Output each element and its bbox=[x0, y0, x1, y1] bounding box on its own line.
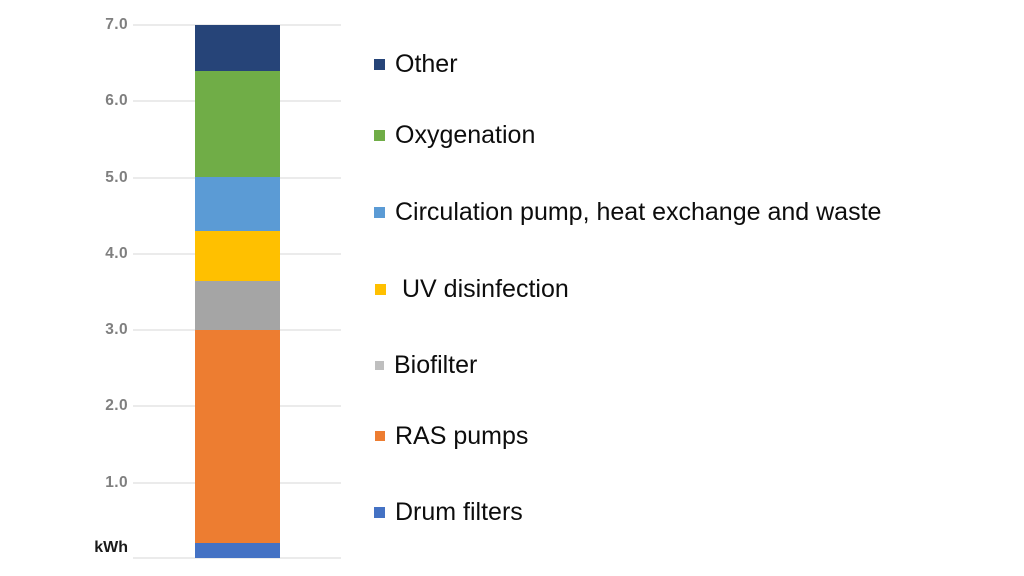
ytick-4: 4.0 bbox=[68, 246, 128, 262]
ytick-7: 7.0 bbox=[68, 17, 128, 33]
legend-label-biofilter: Biofilter bbox=[394, 353, 477, 378]
bar-segment-oxygenation[interactable] bbox=[195, 71, 280, 177]
legend-item-drum-filters[interactable]: Drum filters bbox=[374, 495, 523, 529]
legend-item-uv-disinfection[interactable]: UV disinfection bbox=[375, 272, 569, 306]
bar-segment-uv-disinfection[interactable] bbox=[195, 231, 280, 281]
legend-label-oxygenation: Oxygenation bbox=[395, 123, 535, 148]
legend-swatch-icon-drum-filters bbox=[374, 507, 385, 518]
legend-swatch-icon-biofilter bbox=[375, 361, 384, 370]
ytick-5: 5.0 bbox=[68, 170, 128, 186]
ytick-label-1: 1.0 bbox=[68, 475, 128, 491]
bar-segment-ras-pumps[interactable] bbox=[195, 330, 280, 543]
legend-swatch-icon-uv-disinfection bbox=[375, 284, 386, 295]
y-axis-unit-label: kWh bbox=[68, 540, 128, 556]
legend-swatch-icon-other bbox=[374, 59, 385, 70]
ytick-6: 6.0 bbox=[68, 93, 128, 109]
legend-item-ras-pumps[interactable]: RAS pumps bbox=[375, 419, 528, 453]
ytick-label-4: 4.0 bbox=[68, 246, 128, 262]
ytick-label-2: 2.0 bbox=[68, 398, 128, 414]
ytick-1: 1.0 bbox=[68, 475, 128, 491]
legend-label-ras-pumps: RAS pumps bbox=[395, 424, 528, 449]
ytick-label-7: 7.0 bbox=[68, 17, 128, 33]
ytick-label-5: 5.0 bbox=[68, 170, 128, 186]
bar-segment-other[interactable] bbox=[195, 25, 280, 71]
legend-label-circulation-pump: Circulation pump, heat exchange and wast… bbox=[395, 200, 881, 225]
stacked-bar[interactable] bbox=[195, 25, 280, 558]
bar-segment-circulation-pump[interactable] bbox=[195, 177, 280, 231]
legend-item-other[interactable]: Other bbox=[374, 47, 458, 81]
chart-plot-area: 7.0 6.0 5.0 4.0 3.0 2.0 1.0 kWh bbox=[0, 0, 345, 576]
legend-item-biofilter[interactable]: Biofilter bbox=[375, 348, 477, 382]
bar-segment-biofilter[interactable] bbox=[195, 281, 280, 330]
legend-label-other: Other bbox=[395, 52, 458, 77]
legend-label-drum-filters: Drum filters bbox=[395, 500, 523, 525]
legend-item-circulation-pump[interactable]: Circulation pump, heat exchange and wast… bbox=[374, 195, 881, 229]
ytick-label-3: 3.0 bbox=[68, 322, 128, 338]
bar-segment-drum-filters[interactable] bbox=[195, 543, 280, 558]
y-axis-unit-text: kWh bbox=[68, 540, 128, 556]
legend-label-uv-disinfection: UV disinfection bbox=[402, 277, 569, 302]
ytick-2: 2.0 bbox=[68, 398, 128, 414]
ytick-label-6: 6.0 bbox=[68, 93, 128, 109]
legend-swatch-icon-circulation-pump bbox=[374, 207, 385, 218]
legend-swatch-icon-ras-pumps bbox=[375, 431, 385, 441]
legend-item-oxygenation[interactable]: Oxygenation bbox=[374, 118, 535, 152]
ytick-3: 3.0 bbox=[68, 322, 128, 338]
chart-legend: Other Oxygenation Circulation pump, heat… bbox=[366, 0, 1024, 576]
legend-swatch-icon-oxygenation bbox=[374, 130, 385, 141]
